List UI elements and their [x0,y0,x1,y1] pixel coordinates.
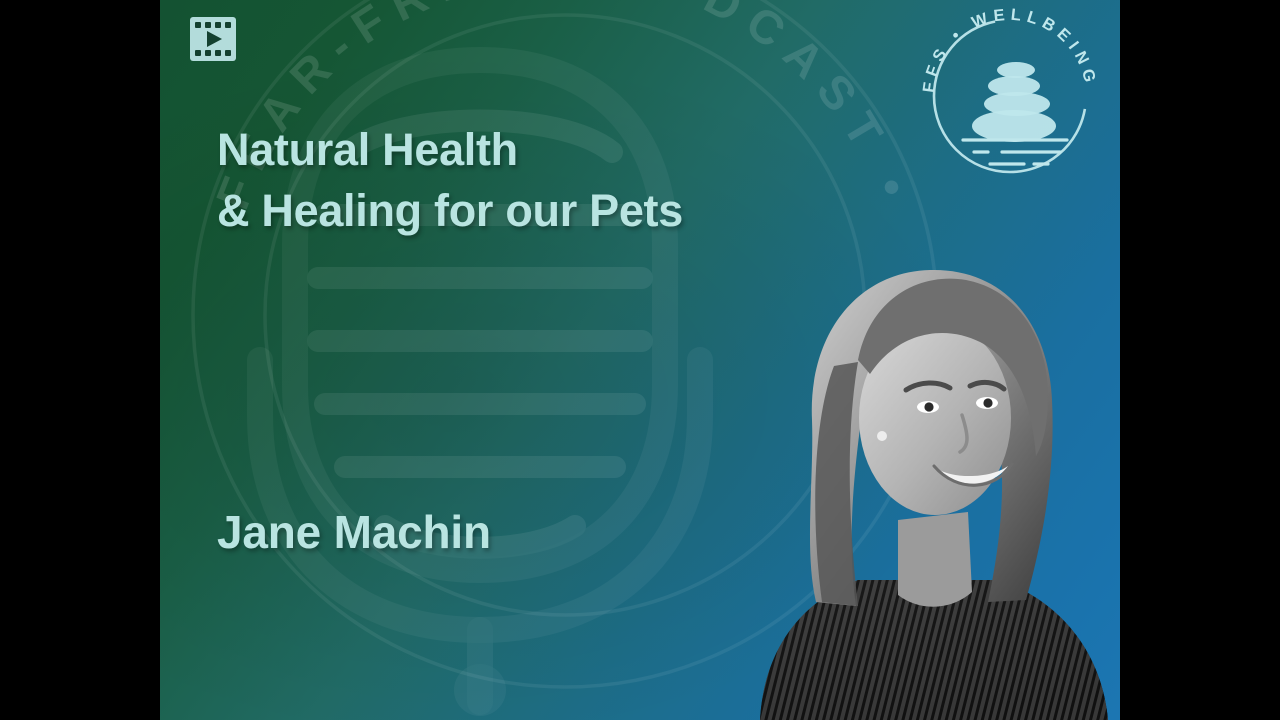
film-play-icon[interactable] [189,16,237,62]
podcast-cover-art: FEAR-FREE • PODCAST • [160,0,1120,720]
speaker-portrait [730,250,1120,720]
page-title: Natural Health & Healing for our Pets [217,120,683,242]
ring-watermark: FEAR-FREE • PODCAST • [160,0,1015,720]
ffs-wellbeing-logo[interactable]: FFS • WELLBEING [912,0,1108,194]
stacked-stones-icon [972,62,1056,142]
speaker-name: Jane Machin [217,505,491,559]
pillarbox-right [1120,0,1280,720]
pillarbox-left [0,0,160,720]
screenshot-root: FEAR-FREE • PODCAST • [0,0,1280,720]
